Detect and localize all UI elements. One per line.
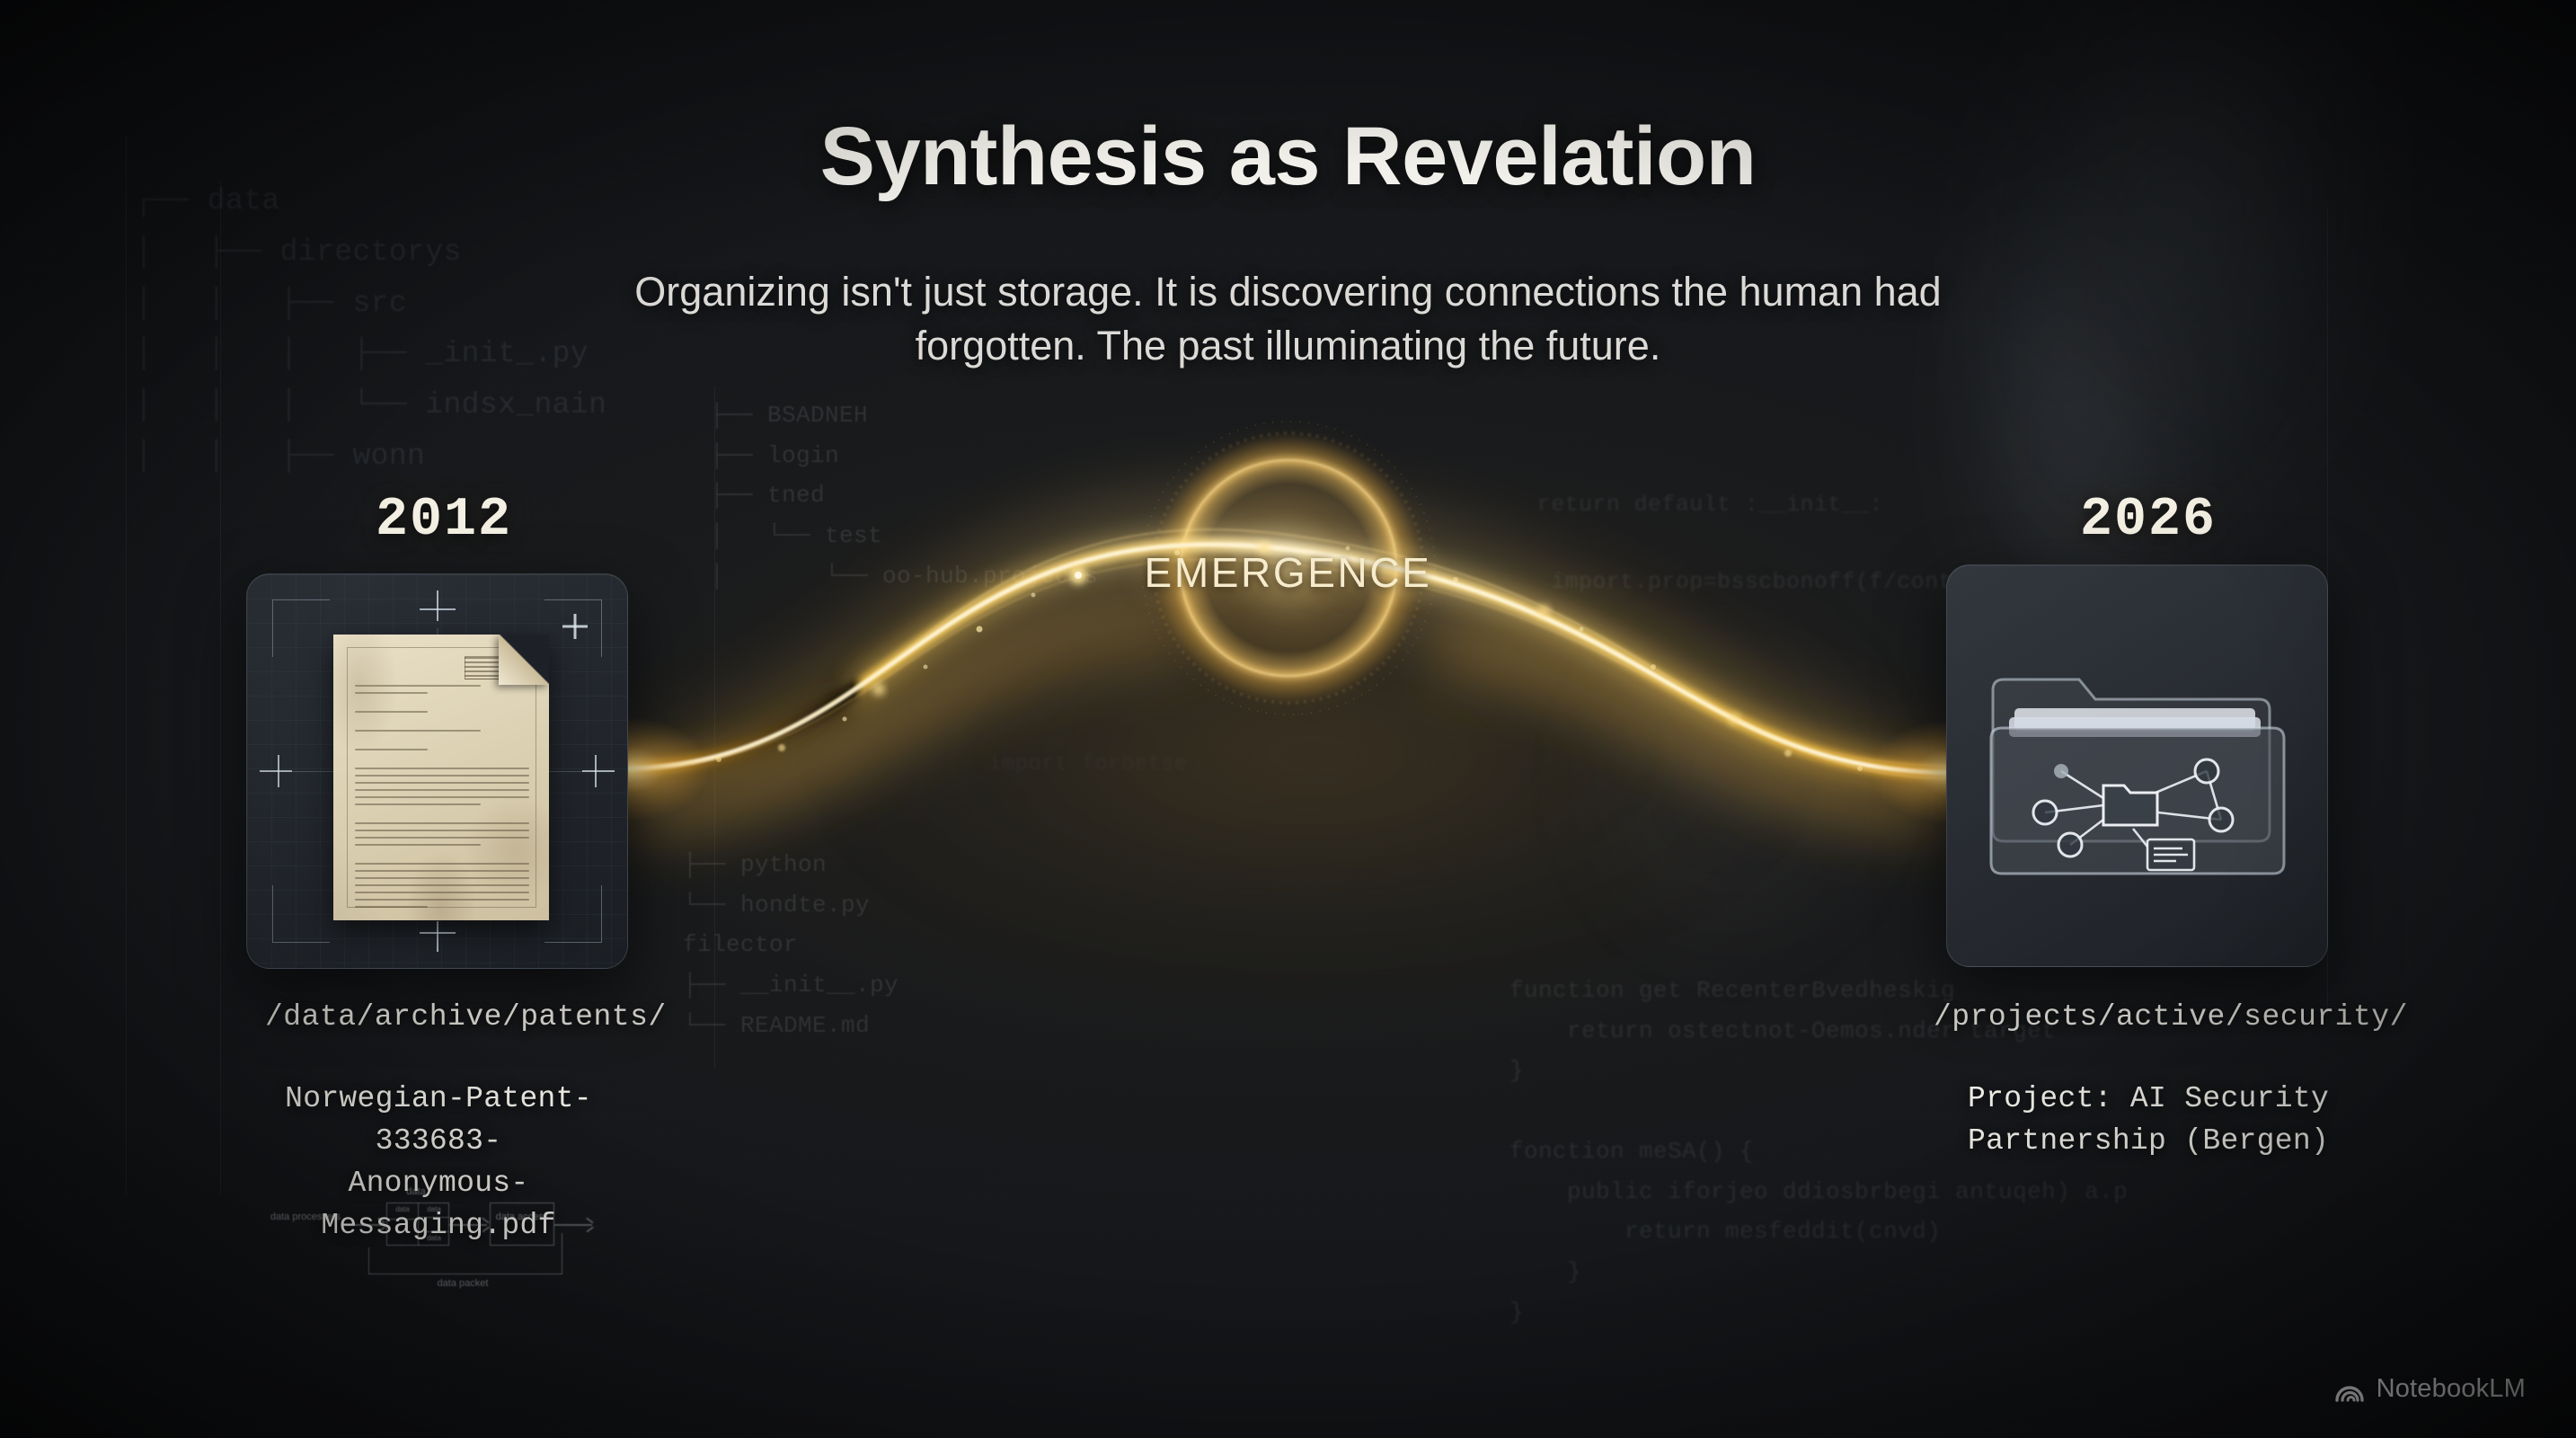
path-label-right: /projects/active/security/ (1934, 1000, 2408, 1034)
data-flow-diagram: data processers data data data data data… (270, 1177, 602, 1294)
registration-tick-bottom-cross (420, 932, 456, 934)
registration-tick-top (437, 590, 438, 621)
year-label-left: 2012 (376, 490, 512, 551)
diagram-input-label: data processers (270, 1212, 341, 1224)
background-file-tree-center-bottom: ├── python └── hondte.py filector ├── __… (683, 845, 899, 1046)
folder-network-icon (1989, 644, 2286, 904)
diagram-arrowhead-2b (482, 1226, 489, 1232)
diagram-loop-right (562, 1233, 562, 1274)
path-label-left: /data/archive/patents/ (265, 1000, 667, 1034)
background-file-tree-center-top: ├── BSADNEH ├── login ├── tned │ └── tes… (710, 395, 1098, 597)
diagram-arrowhead-1b (377, 1226, 385, 1232)
diagram-output-label: data access (491, 1212, 553, 1224)
diagram-loop-label: data packet (404, 1278, 521, 1291)
project-name-right-line1: Project: AI Security (1968, 1078, 2390, 1121)
notebooklm-watermark-label: NotebookLM (2377, 1374, 2526, 1404)
notebooklm-watermark: NotebookLM (2334, 1374, 2526, 1404)
paper-curled-corner (499, 635, 549, 685)
diagram-arrowhead-3b (586, 1226, 593, 1232)
background-code-faint: import forbetse (988, 746, 1188, 783)
diagram-box-output (490, 1203, 554, 1246)
slide-canvas: ┌── data │ ├── directorys │ │ ├── src │ … (0, 0, 2576, 1438)
diagram-box-row-rule (386, 1219, 418, 1220)
diagram-loop-left (368, 1247, 369, 1274)
paper-text-block (355, 685, 529, 913)
registration-tick-bottom (437, 921, 438, 952)
diagram-arrow-3 (554, 1224, 592, 1226)
diagram-cell-2: data (419, 1205, 449, 1214)
diagram-cell-1: data (387, 1205, 418, 1214)
year-label-right: 2026 (2080, 490, 2217, 551)
project-name-right-line2: Partnership (Bergen) (1968, 1121, 2390, 1163)
file-name-left-line1: Norwegian-Patent-333683- (236, 1078, 641, 1163)
background-rule (126, 135, 127, 1195)
paper-margin-rule (347, 647, 536, 908)
aged-document-icon (333, 635, 549, 920)
registration-tick-right-cross (595, 755, 597, 787)
diagram-box-row-rule (418, 1231, 449, 1232)
archive-document-card[interactable] (246, 573, 628, 969)
emergence-label: EMERGENCE (1145, 548, 1432, 597)
corner-bracket-tl (272, 599, 330, 657)
background-rule (220, 180, 221, 1195)
diagram-box-row-rule (418, 1217, 449, 1218)
diagram-cell-3: data (419, 1234, 449, 1243)
corner-bracket-bl (272, 885, 330, 943)
registration-tick-left (260, 770, 292, 772)
background-file-tree-left: ┌── data │ ├── directorys │ │ ├── src │ … (135, 176, 606, 483)
registration-tick-top-cross (420, 608, 456, 610)
project-name-right: Project: AI Security Partnership (Bergen… (1968, 1078, 2390, 1163)
registration-tick-left-cross (278, 755, 279, 787)
corner-bracket-br (544, 885, 602, 943)
paper-header-stamp (465, 656, 529, 679)
diagram-arrow-2 (449, 1224, 487, 1226)
diagram-arrowhead-3a (586, 1217, 593, 1223)
smoke-wisp-center (1444, 503, 2019, 1061)
page-title: Synthesis as Revelation (0, 110, 2576, 204)
diagram-stack-label: data (385, 1186, 447, 1199)
registration-tick-right (582, 770, 615, 772)
project-folder-card[interactable] (1946, 564, 2328, 967)
background-rule (714, 386, 715, 1070)
diagram-arrowhead-2a (482, 1217, 489, 1223)
diagram-arrowhead-1a (377, 1217, 385, 1223)
page-subtitle: Organizing isn't just storage. It is dis… (570, 265, 2007, 373)
diagram-loop-bottom (368, 1274, 562, 1274)
crosshair-icon (562, 614, 588, 639)
notebooklm-arc-icon (2334, 1376, 2365, 1403)
diagram-arrow-1 (345, 1224, 383, 1226)
